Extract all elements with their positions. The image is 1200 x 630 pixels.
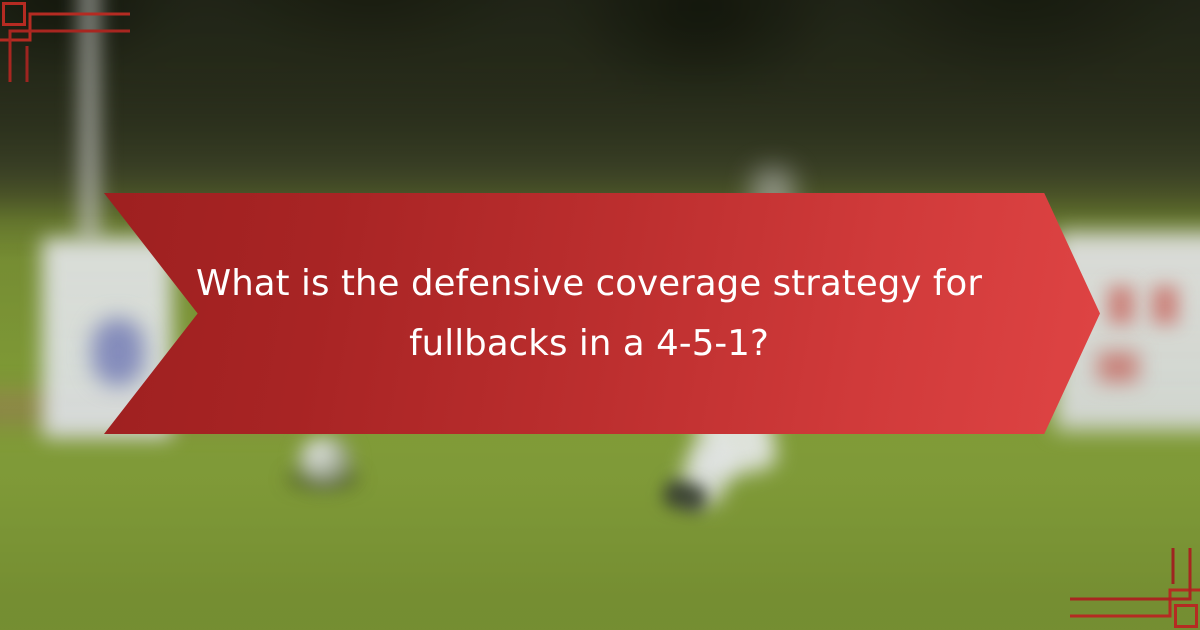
headline-text: What is the defensive coverage strategy … [200, 193, 978, 434]
screenshot-canvas: What is the defensive coverage strategy … [0, 0, 1200, 630]
headline-line-1: What is the defensive coverage strategy … [196, 254, 982, 314]
corner-lines-icon [1070, 548, 1200, 630]
headline-line-2: fullbacks in a 4-5-1? [409, 314, 769, 374]
corner-ornament-top-left [0, 0, 130, 82]
corner-ornament-bottom-right [1070, 548, 1200, 630]
corner-lines-icon [0, 0, 130, 82]
headline-banner: What is the defensive coverage strategy … [104, 193, 1100, 434]
